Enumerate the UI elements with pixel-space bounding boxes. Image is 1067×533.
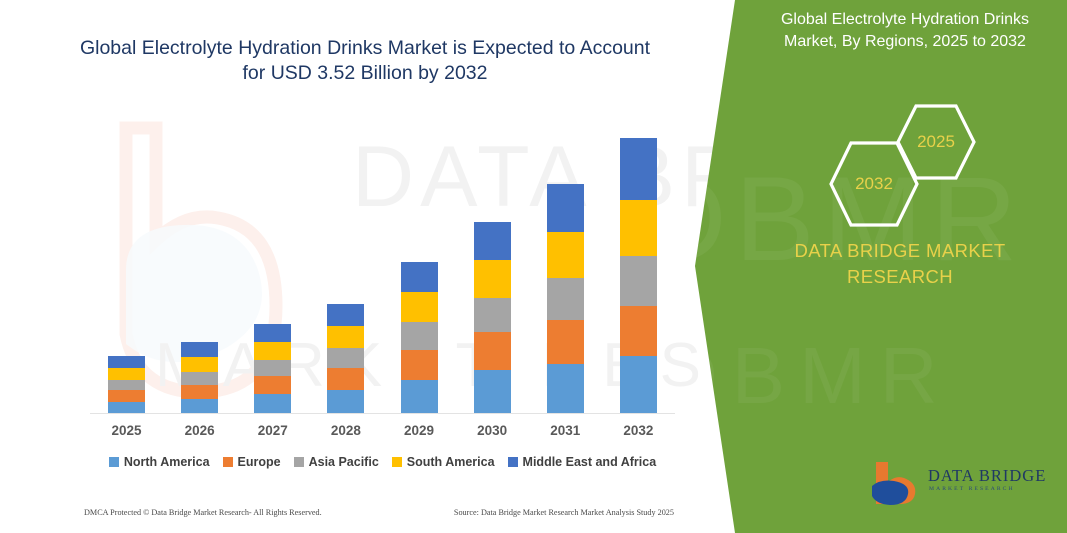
bar-segment	[108, 356, 145, 368]
legend-swatch	[508, 457, 518, 467]
legend-label: Europe	[238, 455, 281, 469]
right-green-panel: DBMR DBMR Global Electrolyte Hydration D…	[680, 0, 1067, 533]
bar-stack	[181, 342, 218, 414]
bar-segment	[474, 370, 511, 414]
legend-swatch	[294, 457, 304, 467]
x-axis-line	[90, 413, 675, 414]
bar-segment	[327, 348, 364, 368]
bar-segment	[547, 184, 584, 232]
bar-segment	[547, 364, 584, 414]
bar-segment	[327, 326, 364, 348]
bar-segment	[620, 256, 657, 306]
bar-segment	[547, 232, 584, 278]
bar-segment	[620, 356, 657, 414]
legend-item[interactable]: Middle East and Africa	[508, 455, 657, 469]
legend-swatch	[223, 457, 233, 467]
logo-b-icon	[870, 460, 922, 506]
page-title: Global Electrolyte Hydration Drinks Mark…	[70, 36, 660, 86]
hexagon-start-year: 2025	[895, 103, 977, 181]
bar-stack	[327, 304, 364, 414]
bar-segment	[327, 368, 364, 390]
bar-segment	[254, 342, 291, 360]
bar-segment	[108, 390, 145, 402]
legend-label: North America	[124, 455, 210, 469]
logo-name: DATA BRIDGE	[928, 466, 1046, 486]
bar-stack	[108, 356, 145, 414]
x-axis-tick-label: 2027	[238, 423, 308, 438]
x-axis-tick-label: 2029	[384, 423, 454, 438]
legend-item[interactable]: North America	[109, 455, 210, 469]
bar-segment	[181, 342, 218, 357]
bar-segment	[401, 380, 438, 414]
bar-segment	[474, 332, 511, 370]
legend-label: Middle East and Africa	[523, 455, 657, 469]
legend-item[interactable]: South America	[392, 455, 495, 469]
bar-segment	[620, 138, 657, 200]
bar-segment	[401, 322, 438, 350]
bar-segment	[401, 292, 438, 322]
legend-item[interactable]: Europe	[223, 455, 281, 469]
x-axis-tick-label: 2032	[603, 423, 673, 438]
bar-segment	[401, 262, 438, 292]
x-axis-tick-label: 2028	[311, 423, 381, 438]
bar-segment	[181, 385, 218, 399]
infographic-canvas: DATA BRIDGE MARKET RESEARCH Global Elect…	[0, 0, 1067, 533]
brand-name: DATA BRIDGE MARKET RESEARCH	[740, 238, 1060, 290]
bar-segment	[474, 260, 511, 298]
bar-segment	[401, 350, 438, 380]
bar-segment	[620, 306, 657, 356]
legend-label: Asia Pacific	[309, 455, 379, 469]
bar-segment	[474, 298, 511, 332]
bar-segment	[474, 222, 511, 260]
bar-segment	[108, 380, 145, 390]
bar-stack	[254, 324, 291, 414]
legend-swatch	[109, 457, 119, 467]
legend-swatch	[392, 457, 402, 467]
bar-segment	[254, 394, 291, 414]
footer: DMCA Protected © Data Bridge Market Rese…	[84, 508, 674, 517]
x-axis-tick-label: 2030	[457, 423, 527, 438]
bar-stack	[401, 262, 438, 414]
logo-subtitle: MARKET RESEARCH	[929, 486, 1015, 492]
chart-legend: North AmericaEuropeAsia PacificSouth Ame…	[90, 455, 675, 469]
x-axis-tick-label: 2026	[165, 423, 235, 438]
bar-segment	[108, 368, 145, 380]
bar-stack	[620, 138, 657, 414]
data-bridge-logo: DATA BRIDGE MARKET RESEARCH	[870, 460, 1060, 508]
brand-line-2: RESEARCH	[740, 264, 1060, 290]
bar-stack	[547, 184, 584, 414]
bar-segment	[254, 360, 291, 376]
bar-segment	[547, 278, 584, 320]
bar-chart-plot	[90, 120, 675, 414]
panel-title: Global Electrolyte Hydration Drinks Mark…	[755, 9, 1055, 53]
hexagon-end-year-label: 2032	[855, 174, 893, 194]
bar-segment	[620, 200, 657, 256]
x-axis-labels: 20252026202720282029203020312032	[90, 423, 675, 445]
bar-segment	[254, 376, 291, 394]
brand-line-1: DATA BRIDGE MARKET	[740, 238, 1060, 264]
bar-segment	[181, 399, 218, 414]
bar-segment	[254, 324, 291, 342]
legend-item[interactable]: Asia Pacific	[294, 455, 379, 469]
footer-source: Source: Data Bridge Market Research Mark…	[454, 508, 674, 517]
bar-segment	[547, 320, 584, 364]
x-axis-tick-label: 2031	[530, 423, 600, 438]
panel-watermark-2: DBMR	[660, 330, 952, 422]
bar-segment	[181, 357, 218, 372]
hexagon-start-year-label: 2025	[917, 132, 955, 152]
legend-label: South America	[407, 455, 495, 469]
bar-segment	[327, 304, 364, 326]
bar-stack	[474, 222, 511, 414]
bar-segment	[181, 372, 218, 385]
footer-copyright: DMCA Protected © Data Bridge Market Rese…	[84, 508, 322, 517]
x-axis-tick-label: 2025	[92, 423, 162, 438]
bar-segment	[327, 390, 364, 414]
